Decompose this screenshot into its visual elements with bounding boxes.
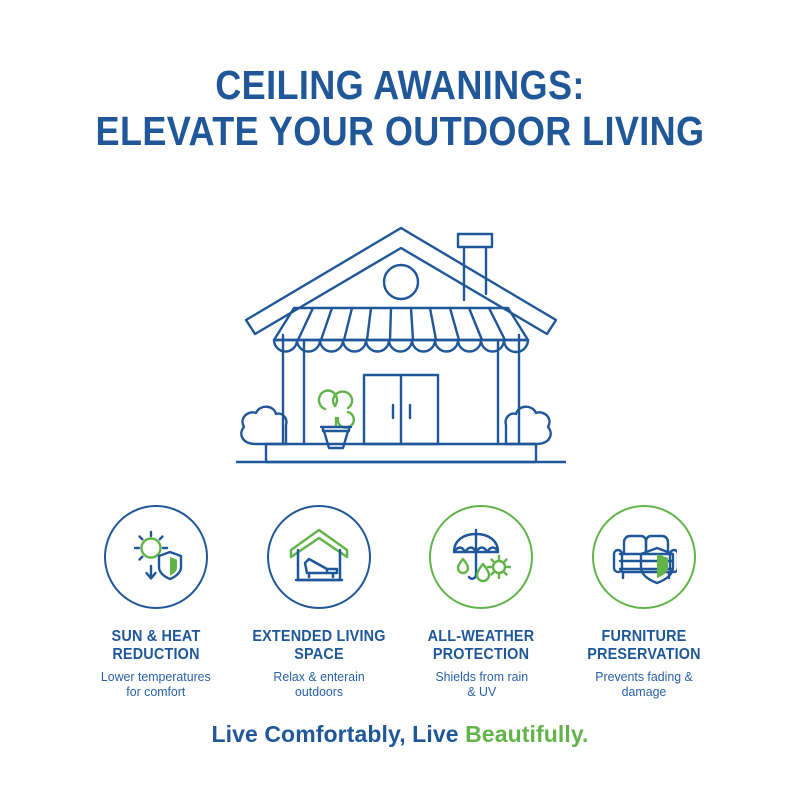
feature-card-description: Prevents fading & damage bbox=[572, 669, 716, 699]
tagline: Live Comfortably, Live Beautifully. bbox=[0, 721, 800, 747]
awning-shape bbox=[274, 308, 528, 352]
round-gable-window bbox=[384, 265, 418, 299]
sun-shield-icon-ring bbox=[104, 505, 208, 609]
feature-card-extended-living-space[interactable]: EXTENDED LIVING SPACE Relax & enterain o… bbox=[243, 505, 395, 699]
feature-card-title: ALL-WEATHER PROTECTION bbox=[411, 628, 552, 663]
pergola-lounger-icon bbox=[287, 526, 351, 588]
porch-step-shape bbox=[266, 444, 536, 462]
sofa-shield-icon-ring bbox=[592, 505, 696, 609]
house-with-awning-illustration bbox=[236, 222, 566, 472]
feature-card-furniture-preservation[interactable]: FURNITURE PRESERVATION Prevents fading &… bbox=[568, 505, 720, 699]
infographic-poster: CEILING AWANINGS: ELEVATE YOUR OUTDOOR L… bbox=[0, 0, 800, 800]
page-title: CEILING AWANINGS: ELEVATE YOUR OUTDOOR L… bbox=[0, 62, 800, 154]
feature-card-title: SUN & HEAT REDUCTION bbox=[85, 628, 226, 663]
tagline-blue-text: Live Comfortably, Live bbox=[211, 721, 465, 747]
tagline-green-text: Beautifully. bbox=[465, 721, 588, 747]
feature-card-title: FURNITURE PRESERVATION bbox=[573, 628, 714, 663]
roof-shape bbox=[246, 228, 556, 334]
feature-card-title: EXTENDED LIVING SPACE bbox=[248, 628, 389, 663]
feature-cards-row: SUN & HEAT REDUCTION Lower temperatures … bbox=[80, 505, 720, 699]
sun-shield-icon bbox=[125, 526, 187, 588]
sofa-shield-icon bbox=[611, 528, 677, 586]
pergola-lounger-icon-ring bbox=[267, 505, 371, 609]
feature-card-description: Lower temperatures for comfort bbox=[101, 669, 211, 699]
bush-left-shape bbox=[241, 407, 286, 444]
bush-right-shape bbox=[506, 407, 551, 444]
feature-card-sun-heat-reduction[interactable]: SUN & HEAT REDUCTION Lower temperatures … bbox=[80, 505, 232, 699]
title-line-2: ELEVATE YOUR OUTDOOR LIVING bbox=[48, 108, 752, 154]
feature-card-description: Relax & enterain outdoors bbox=[273, 669, 364, 699]
feature-card-all-weather-protection[interactable]: ALL-WEATHER PROTECTION Shields from rain… bbox=[405, 505, 557, 699]
umbrella-rain-sun-icon-ring bbox=[429, 505, 533, 609]
double-doors-shape bbox=[364, 375, 438, 444]
potted-plant-shape bbox=[319, 391, 354, 448]
title-line-1: CEILING AWANINGS: bbox=[48, 62, 752, 108]
feature-card-description: Shields from rain & UV bbox=[435, 669, 528, 699]
umbrella-rain-sun-icon bbox=[449, 526, 513, 588]
chimney-shape bbox=[458, 234, 492, 300]
